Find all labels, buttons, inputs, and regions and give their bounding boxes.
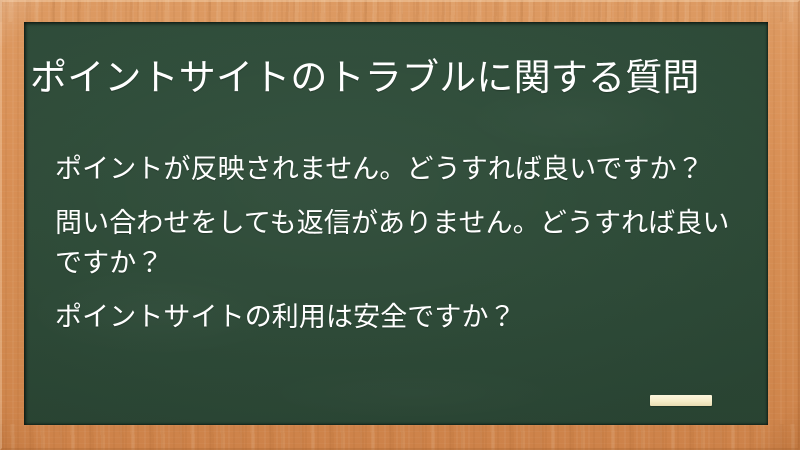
list-item: ポイントが反映されません。どうすれば良いですか？	[55, 150, 745, 190]
wood-frame-grain-bottom	[0, 424, 800, 450]
question-list: ポイントが反映されません。どうすれば良いですか？ 問い合わせをしても返信がありま…	[55, 150, 745, 338]
wood-frame-grain-top	[0, 0, 800, 22]
chalkboard-surface: ポイントサイトのトラブルに関する質問 ポイントが反映されません。どうすれば良いで…	[24, 22, 768, 425]
list-item: ポイントサイトの利用は安全ですか？	[55, 298, 745, 338]
chalkboard-slide: ポイントサイトのトラブルに関する質問 ポイントが反映されません。どうすれば良いで…	[0, 0, 800, 450]
list-item: 問い合わせをしても返信がありません。どうすれば良いですか？	[55, 204, 745, 284]
chalk-stick	[650, 395, 712, 406]
page-title: ポイントサイトのトラブルに関する質問	[30, 55, 742, 102]
